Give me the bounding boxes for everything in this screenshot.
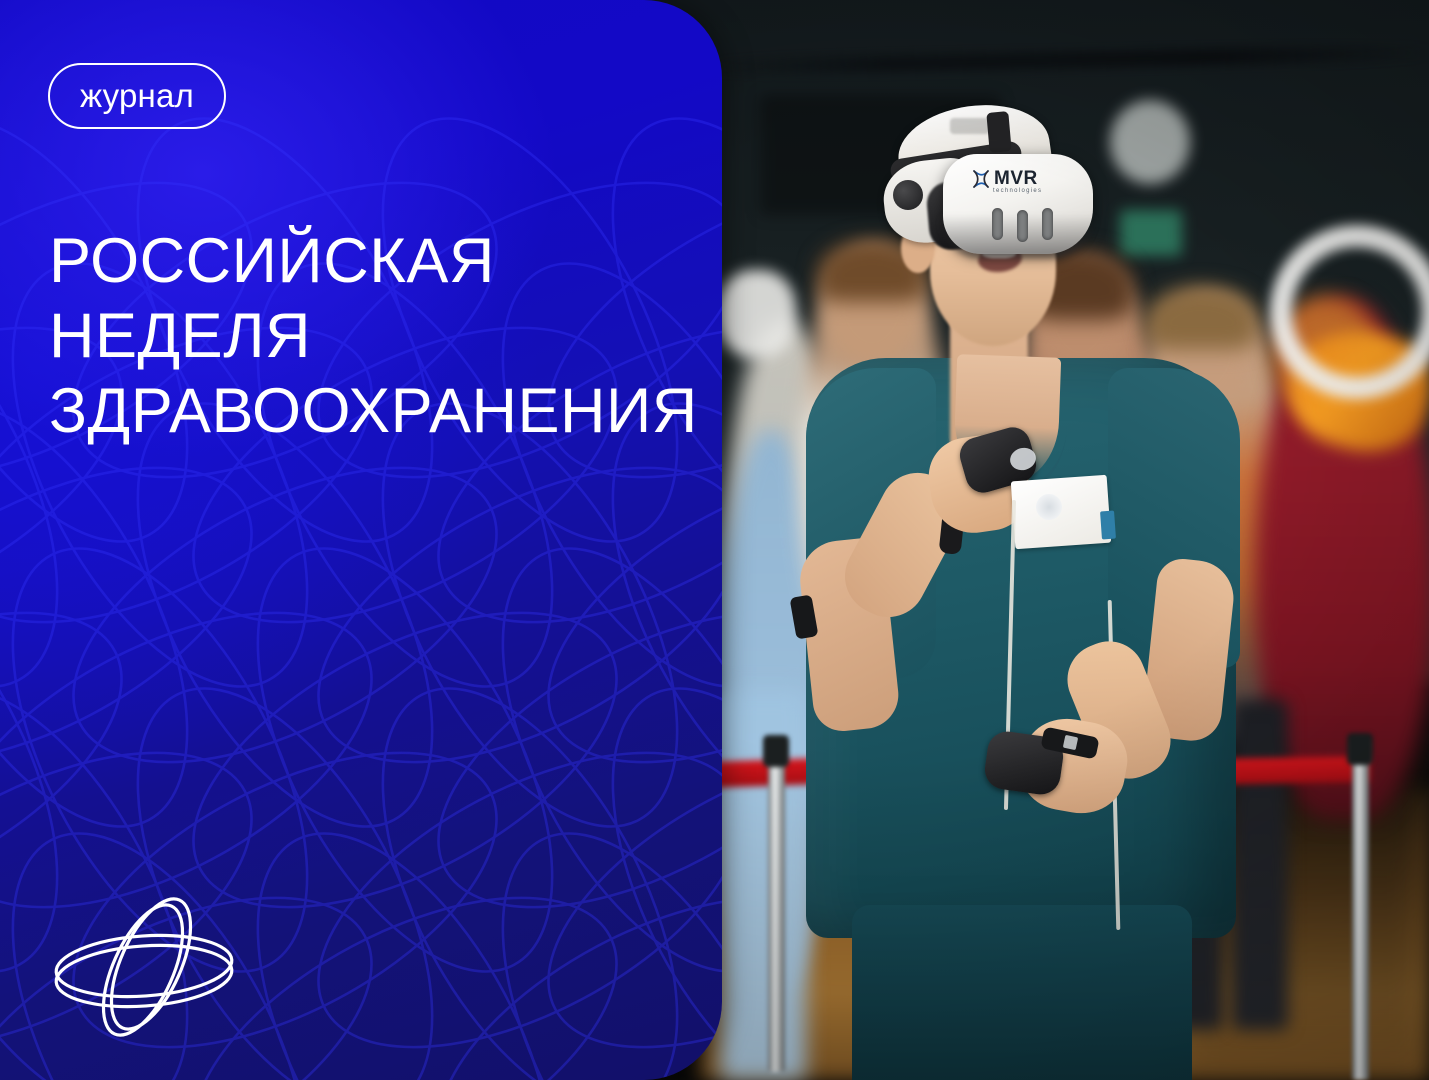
scrub-pants (852, 905, 1192, 1080)
promo-card: MVR technologies (0, 0, 1429, 1080)
dna-helix-icon (972, 169, 990, 189)
headset-brand-lockup: MVR (972, 168, 1038, 190)
headset-vent-2 (1017, 210, 1028, 242)
page-title: РОССИЙСКАЯ НЕДЕЛЯ ЗДРАВООХРАНЕНИЯ (49, 224, 709, 449)
headset-strap-marking (950, 118, 990, 134)
headset-top-clip (986, 111, 1011, 153)
headset-vent-3 (1042, 208, 1053, 240)
headset-brand-text: MVR (994, 168, 1038, 190)
headset-vent-1 (992, 208, 1003, 240)
orbital-rings-logo (48, 878, 258, 1054)
subject-id-badge-tag (1100, 511, 1116, 540)
title-panel: журнал РОССИЙСКАЯ НЕДЕЛЯ ЗДРАВООХРАНЕНИЯ (0, 0, 722, 1080)
subject-left-watch-buckle (1063, 735, 1078, 750)
journal-badge[interactable]: журнал (48, 63, 226, 129)
headset-adjust-dial (893, 180, 923, 210)
headset-sub-brand-text: technologies (993, 188, 1042, 194)
page-title-line-2: НЕДЕЛЯ (49, 299, 709, 374)
page-title-line-1: РОССИЙСКАЯ (49, 224, 709, 299)
page-title-line-3: ЗДРАВООХРАНЕНИЯ (49, 374, 709, 449)
